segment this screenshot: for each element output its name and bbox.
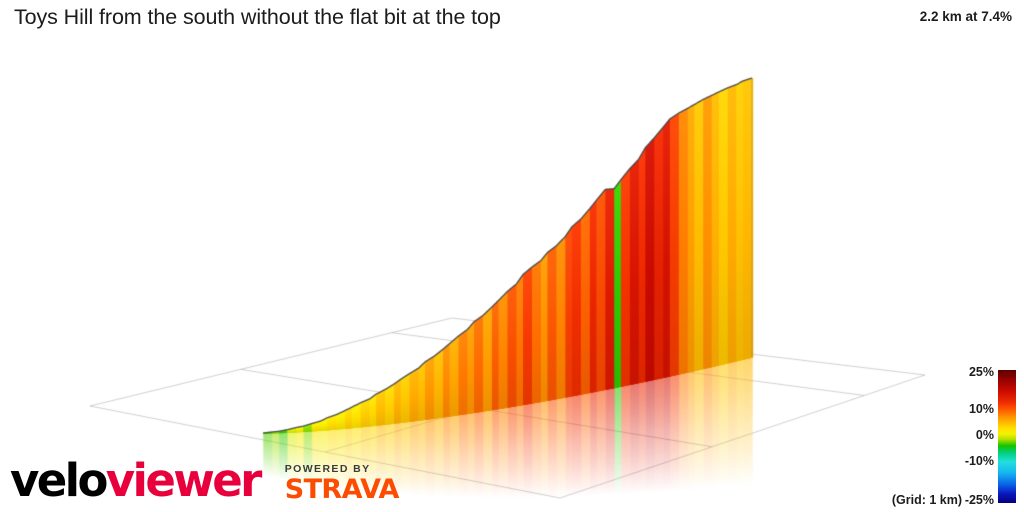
strava-wordmark: STRAVA: [285, 476, 399, 504]
legend-tick-10: 10%: [969, 403, 994, 416]
veloviewer-logo[interactable]: veloviewer: [10, 458, 260, 504]
legend-tick-minus-25: -25%: [965, 494, 994, 507]
elevation-profile-3d-canvas[interactable]: [0, 0, 1024, 512]
legend-tick-25: 25%: [969, 366, 994, 379]
logo-text-velo: velo: [10, 454, 106, 507]
branding-bar: veloviewer POWERED BY STRAVA: [10, 452, 399, 506]
legend-tick-0: 0%: [976, 429, 994, 442]
gradient-legend: 25% 10% 0% -10% -25% (Grid: 1 km): [904, 366, 1020, 508]
strava-attribution[interactable]: POWERED BY STRAVA: [285, 463, 399, 504]
legend-tick-minus-10: -10%: [965, 455, 994, 468]
legend-grid-note: (Grid: 1 km): [892, 494, 962, 507]
logo-text-viewer: viewer: [106, 454, 260, 507]
gradient-colorbar: [998, 370, 1016, 503]
